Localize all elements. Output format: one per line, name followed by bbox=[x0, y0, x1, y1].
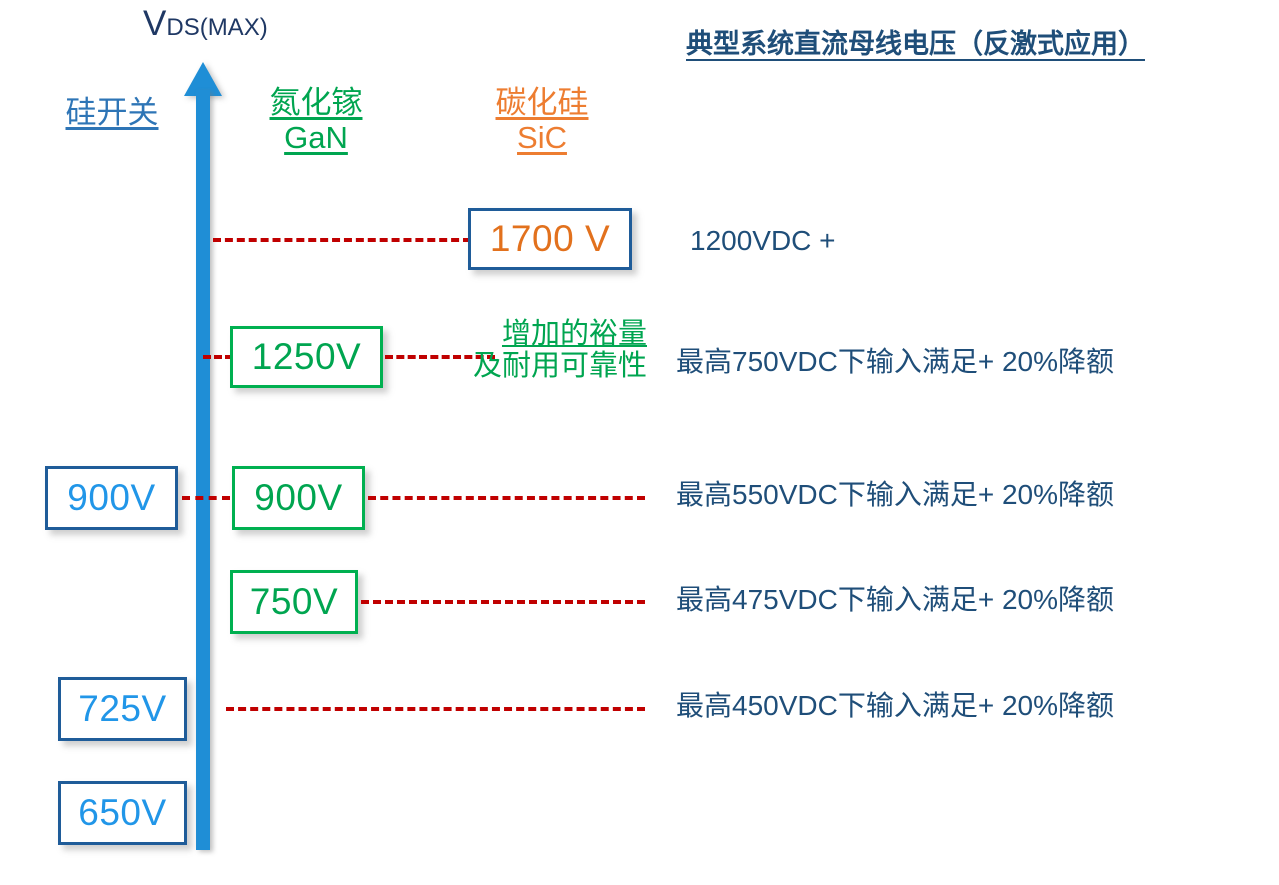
box-silicon-900[interactable]: 900V bbox=[45, 466, 178, 530]
note-450vdc: 最高450VDC下输入满足+ 20%降额 bbox=[676, 692, 1114, 720]
note-750vdc: 最高750VDC下输入满足+ 20%降额 bbox=[676, 348, 1114, 376]
dash-line-1700 bbox=[213, 238, 471, 242]
dash-line-900-right bbox=[368, 496, 645, 500]
box-silicon-725[interactable]: 725V bbox=[58, 677, 187, 741]
dash-line-1250-left bbox=[203, 355, 233, 359]
diagram-canvas: VDS(MAX) 硅开关 氮化镓 GaN 碳化硅 SiC 典型系统直流母线电压（… bbox=[0, 0, 1279, 885]
annotation-line1: 增加的裕量 bbox=[502, 318, 647, 350]
dash-line-750 bbox=[361, 600, 645, 604]
dash-line-725 bbox=[226, 707, 645, 711]
axis-title-subscript: DS(MAX) bbox=[166, 14, 267, 41]
axis-title-main: V bbox=[143, 4, 166, 43]
note-475vdc: 最高475VDC下输入满足+ 20%降额 bbox=[676, 586, 1114, 614]
box-sic-1700[interactable]: 1700 V bbox=[468, 208, 632, 270]
box-gan-750[interactable]: 750V bbox=[230, 570, 358, 634]
box-gan-900[interactable]: 900V bbox=[232, 466, 365, 530]
column-header-sic-line2: SiC bbox=[464, 121, 620, 156]
dash-line-900-left bbox=[182, 496, 230, 500]
column-header-gan-line2: GaN bbox=[238, 121, 394, 156]
box-gan-1250[interactable]: 1250V bbox=[230, 326, 383, 388]
axis-title: VDS(MAX) bbox=[143, 6, 268, 41]
column-header-silicon: 硅开关 bbox=[32, 96, 192, 131]
note-550vdc: 最高550VDC下输入满足+ 20%降额 bbox=[676, 481, 1114, 509]
box-silicon-650[interactable]: 650V bbox=[58, 781, 187, 845]
annotation-line2: 及耐用可靠性 bbox=[415, 350, 647, 382]
column-header-silicon-line1: 硅开关 bbox=[66, 95, 159, 130]
column-header-gan: 氮化镓 GaN bbox=[238, 86, 394, 155]
note-1200vdc: 1200VDC + bbox=[690, 227, 836, 255]
annotation-extra-margin: 增加的裕量 及耐用可靠性 bbox=[415, 318, 647, 383]
column-header-gan-line1: 氮化镓 bbox=[270, 85, 363, 120]
column-header-sic-line1: 碳化硅 bbox=[496, 85, 589, 120]
column-header-sic: 碳化硅 SiC bbox=[464, 86, 620, 155]
vertical-axis bbox=[196, 90, 210, 850]
panel-title: 典型系统直流母线电压（反激式应用） bbox=[686, 22, 1145, 61]
